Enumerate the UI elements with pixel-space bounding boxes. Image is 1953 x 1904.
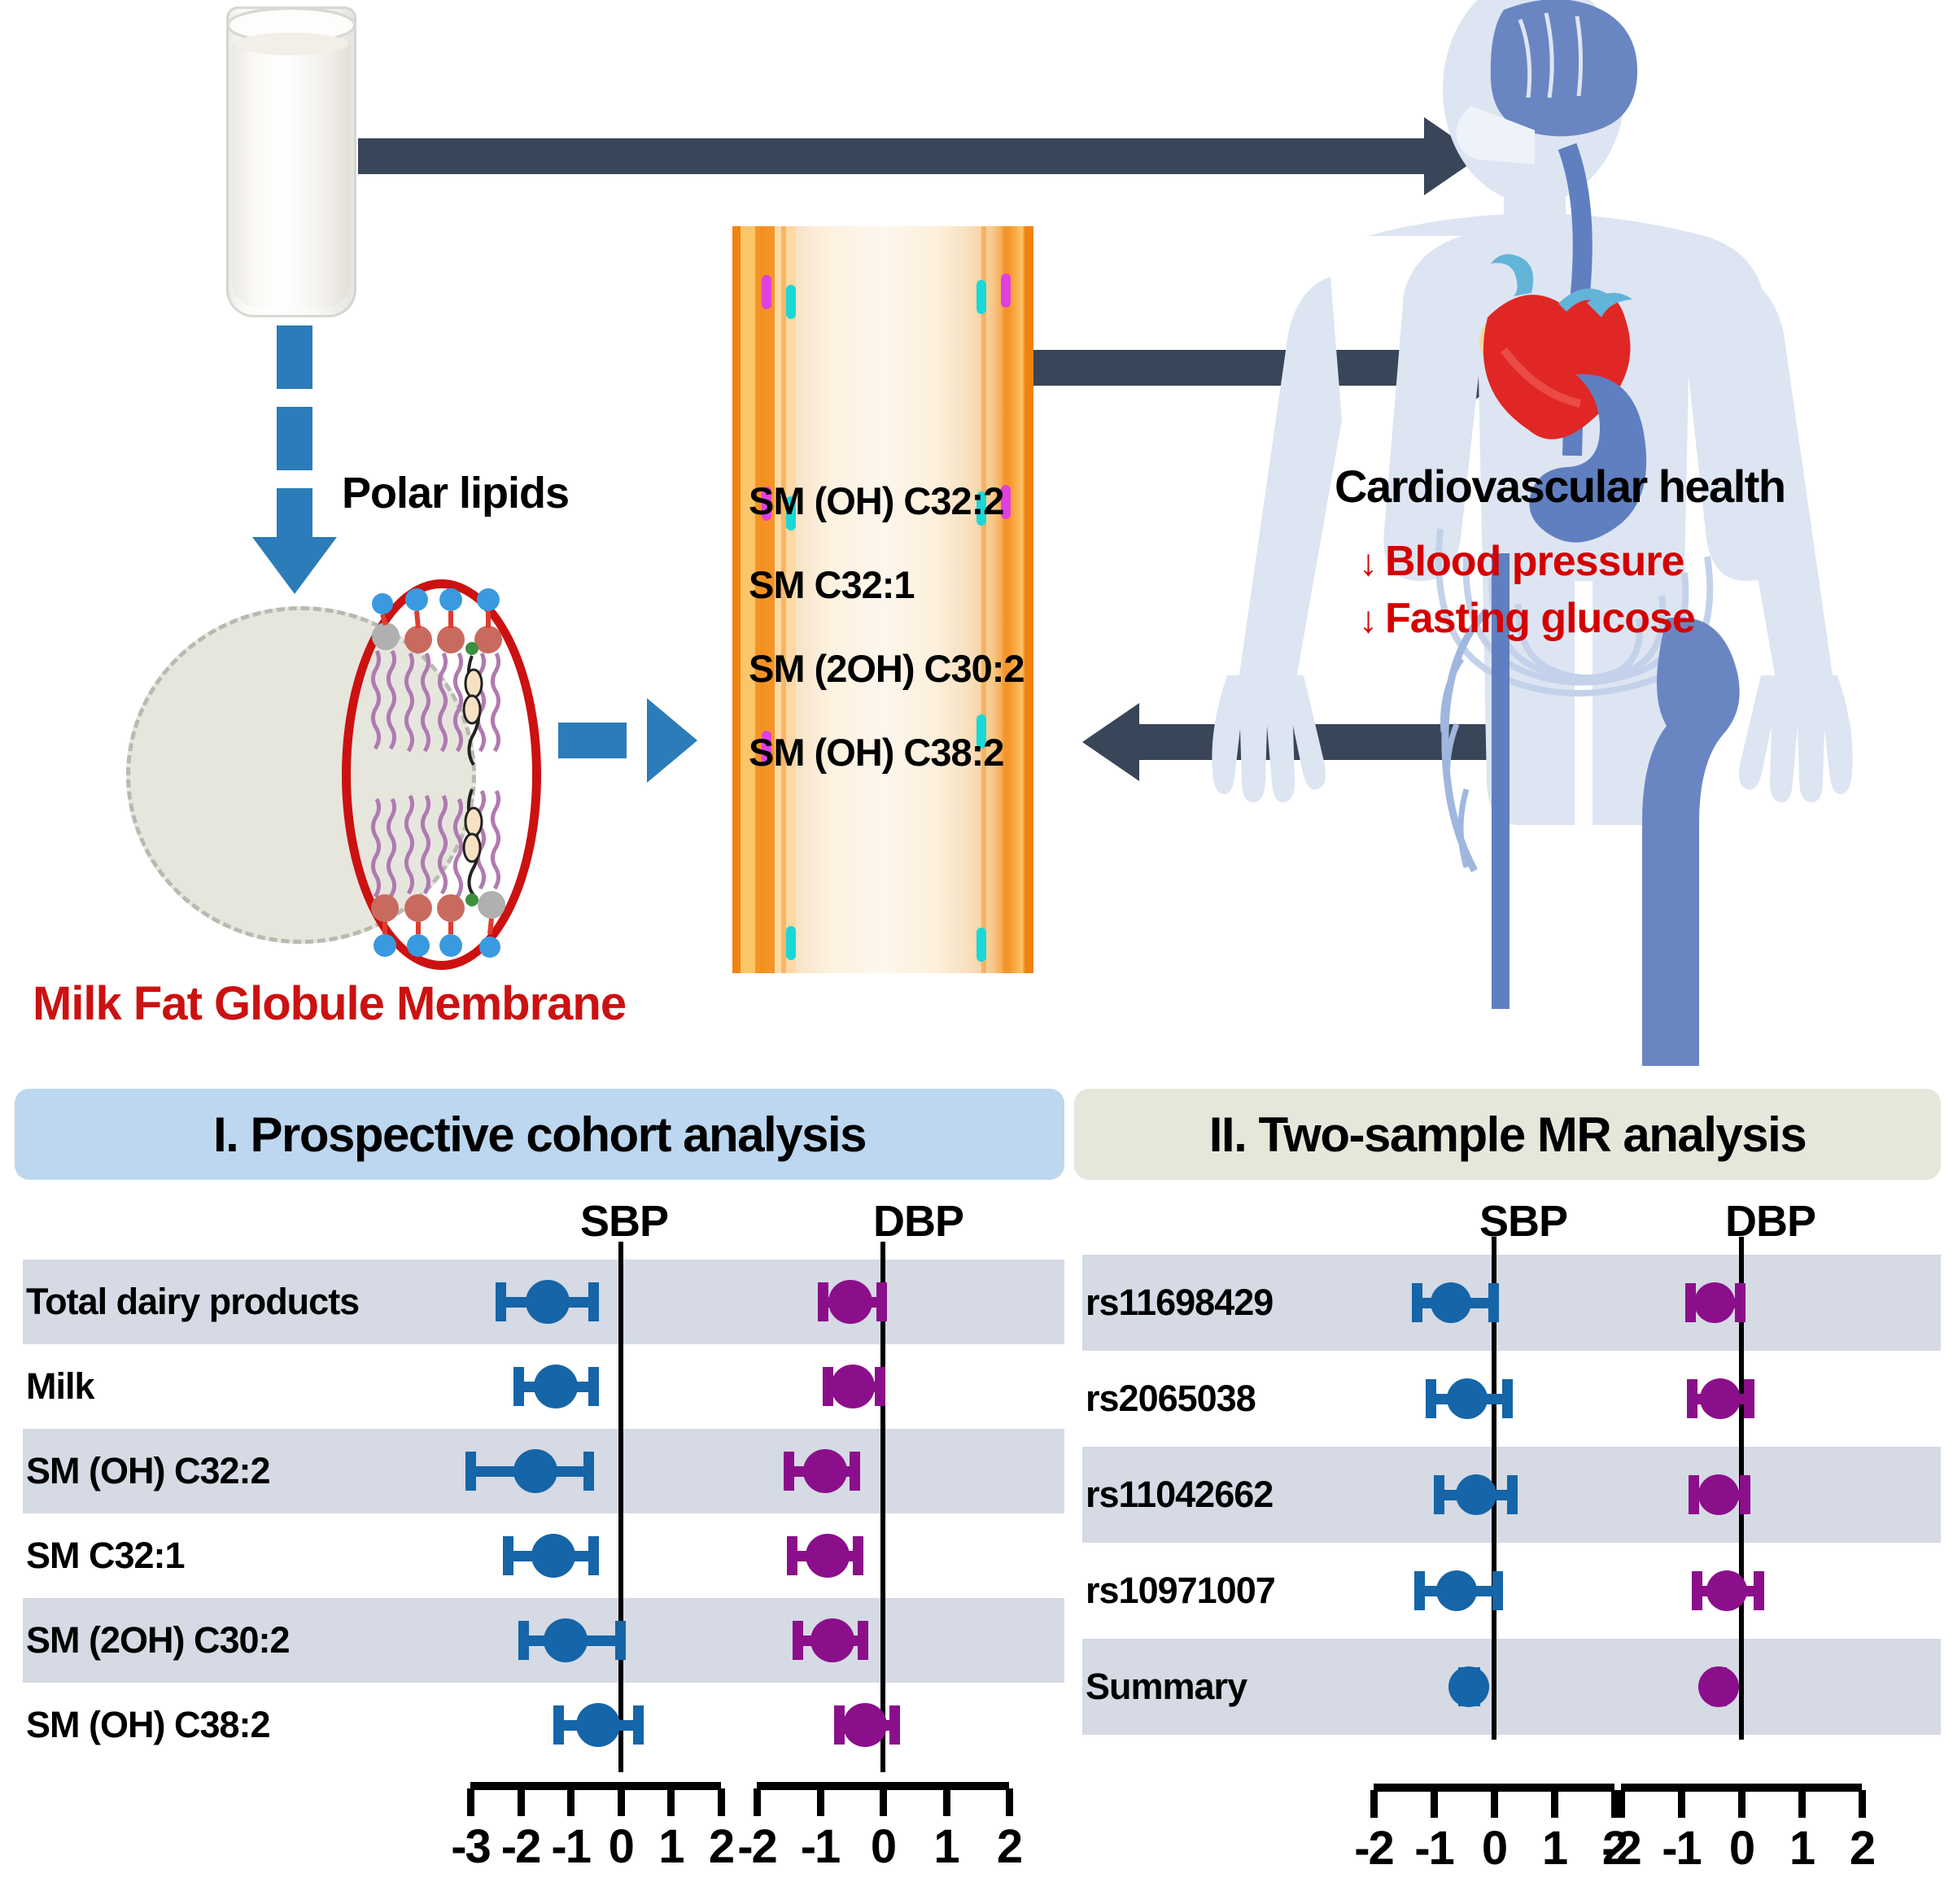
row-label: rs11042662 — [1086, 1474, 1273, 1516]
confidence-interval-cap — [1412, 1283, 1422, 1322]
confidence-interval-cap — [588, 1536, 599, 1575]
confidence-interval-cap — [1754, 1571, 1764, 1610]
x-axis-tick — [1551, 1790, 1558, 1818]
point-estimate-marker — [531, 1534, 575, 1578]
x-axis-tick-label: 0 — [850, 1819, 915, 1874]
vessel-lipid-item: SM (2OH) C30:2 — [749, 646, 1058, 691]
mfgm-label: Milk Fat Globule Membrane — [33, 976, 626, 1031]
point-estimate-marker — [544, 1618, 588, 1662]
point-estimate-marker — [1694, 1282, 1735, 1323]
confidence-interval-cap — [633, 1705, 644, 1745]
outcome-blood-pressure-label: Blood pressure — [1385, 538, 1684, 585]
confidence-interval-cap — [1692, 1571, 1702, 1610]
arrow-milk-to-globule-head — [252, 537, 337, 594]
confidence-interval-cap — [1735, 1283, 1745, 1322]
row-label: Summary — [1086, 1666, 1247, 1708]
confidence-interval-cap — [850, 1452, 860, 1491]
x-axis-tick-label: 2 — [1829, 1821, 1894, 1876]
point-estimate-marker — [1447, 1378, 1488, 1419]
point-estimate-marker — [1431, 1282, 1471, 1323]
x-axis-tick — [880, 1788, 887, 1816]
milk-glass-icon — [226, 7, 356, 317]
x-axis-tick — [943, 1788, 950, 1816]
x-axis-tick — [567, 1788, 575, 1816]
panel-mr-title: II. Two-sample MR analysis — [1209, 1107, 1806, 1163]
confidence-interval-cap — [1502, 1379, 1513, 1418]
down-arrow-icon: ↓ — [1359, 541, 1377, 583]
graphical-abstract-illustration: Polar lipids Milk Fat Globule Membrane S… — [0, 0, 1953, 1082]
point-estimate-marker — [1448, 1666, 1489, 1707]
x-axis-tick-label: -1 — [1649, 1821, 1714, 1876]
row-label: rs2065038 — [1086, 1378, 1256, 1420]
confidence-interval-cap — [1492, 1571, 1503, 1610]
x-axis-tick — [518, 1788, 525, 1816]
arrow-body-to-vessel-head — [1082, 703, 1139, 781]
column-title-sbp: SBP — [580, 1196, 668, 1247]
x-axis-tick-label: -2 — [1341, 1821, 1406, 1876]
confidence-interval-cap — [615, 1621, 626, 1660]
confidence-interval-cap — [858, 1621, 868, 1660]
x-axis-tick — [467, 1788, 474, 1816]
panel-cohort-title: I. Prospective cohort analysis — [213, 1107, 866, 1163]
confidence-interval-cap — [1426, 1379, 1436, 1418]
point-estimate-marker — [534, 1365, 578, 1408]
confidence-interval-cap — [588, 1282, 599, 1321]
x-axis-tick — [1006, 1788, 1013, 1816]
point-estimate-marker — [1436, 1570, 1477, 1611]
confidence-interval-cap — [1740, 1475, 1750, 1514]
confidence-interval-cap — [503, 1536, 513, 1575]
reference-line-zero — [618, 1242, 623, 1772]
confidence-interval-cap — [465, 1452, 476, 1491]
panel-cohort-header: I. Prospective cohort analysis — [15, 1089, 1064, 1180]
point-estimate-marker — [843, 1703, 887, 1747]
row-label: SM (OH) C32:2 — [26, 1450, 270, 1492]
confidence-interval-cap — [889, 1705, 900, 1745]
x-axis-tick — [1431, 1790, 1438, 1818]
panel-prospective-cohort: I. Prospective cohort analysis SBP DBP T… — [15, 1082, 1064, 1904]
x-axis-tick — [1618, 1790, 1625, 1818]
confidence-interval-cap — [1488, 1283, 1499, 1322]
x-axis-tick — [1491, 1790, 1498, 1818]
confidence-interval-cap — [588, 1367, 599, 1406]
x-axis-tick-label: -1 — [1401, 1821, 1466, 1876]
confidence-interval-cap — [853, 1536, 863, 1575]
x-axis-tick — [718, 1788, 725, 1816]
confidence-interval-cap — [496, 1282, 506, 1321]
x-axis-tick — [754, 1788, 761, 1816]
x-axis-tick — [1678, 1790, 1685, 1818]
x-axis-tick-label: 1 — [1769, 1821, 1834, 1876]
vessel-lipid-item: SM C32:1 — [749, 562, 1058, 607]
x-axis-tick-label: -1 — [788, 1819, 853, 1874]
point-estimate-marker — [803, 1449, 847, 1493]
arrow-globule-to-vessel-head — [647, 698, 697, 783]
cardiovascular-health-title: Cardiovascular health — [1335, 460, 1785, 513]
x-axis-tick-label: 1 — [1522, 1821, 1587, 1876]
x-axis — [470, 1782, 721, 1790]
point-estimate-marker — [1698, 1474, 1739, 1515]
outcome-blood-pressure: ↓Blood pressure — [1359, 537, 1684, 586]
confidence-interval-cap — [1744, 1379, 1754, 1418]
vessel-lipid-item: SM (OH) C38:2 — [749, 730, 1058, 775]
x-axis-tick — [1738, 1790, 1745, 1818]
confidence-interval-cap — [1689, 1475, 1699, 1514]
panel-mr-header: II. Two-sample MR analysis — [1074, 1089, 1941, 1180]
row-label: SM (2OH) C30:2 — [26, 1619, 290, 1662]
x-axis-tick-label: -2 — [1588, 1821, 1654, 1876]
confidence-interval-cap — [875, 1367, 885, 1406]
confidence-interval-cap — [787, 1536, 797, 1575]
confidence-interval-cap — [1687, 1379, 1697, 1418]
point-estimate-marker — [1456, 1474, 1496, 1515]
point-estimate-marker — [1706, 1570, 1747, 1611]
confidence-interval-cap — [583, 1452, 594, 1491]
confidence-interval-cap — [876, 1282, 887, 1321]
forest-plot-section: I. Prospective cohort analysis SBP DBP T… — [0, 1082, 1953, 1904]
confidence-interval-cap — [793, 1621, 803, 1660]
x-axis-tick — [1859, 1790, 1866, 1818]
x-axis-tick — [667, 1788, 675, 1816]
point-estimate-marker — [810, 1618, 854, 1662]
confidence-interval-cap — [1414, 1571, 1425, 1610]
panel-mr-analysis: II. Two-sample MR analysis SBP DBP rs116… — [1074, 1082, 1941, 1904]
row-label: SM C32:1 — [26, 1535, 185, 1577]
x-axis-tick-label: 0 — [1709, 1821, 1774, 1876]
point-estimate-marker — [1698, 1666, 1739, 1707]
outcome-fasting-glucose-label: Fasting glucose — [1385, 595, 1695, 642]
down-arrow-icon: ↓ — [1359, 598, 1377, 640]
point-estimate-marker — [828, 1280, 872, 1324]
point-estimate-marker — [831, 1365, 875, 1408]
point-estimate-marker — [806, 1534, 850, 1578]
x-axis-tick — [618, 1788, 625, 1816]
confidence-interval-cap — [818, 1282, 828, 1321]
row-label: SM (OH) C38:2 — [26, 1704, 270, 1746]
lipid-bilayer-icon — [350, 586, 537, 968]
x-axis-tick — [1370, 1790, 1378, 1818]
column-title-dbp: DBP — [873, 1196, 963, 1247]
x-axis-tick — [1798, 1790, 1806, 1818]
confidence-interval-cap — [513, 1367, 524, 1406]
confidence-interval-cap — [518, 1621, 529, 1660]
row-label: rs10971007 — [1086, 1570, 1275, 1612]
confidence-interval-cap — [553, 1705, 564, 1745]
x-axis-tick-label: 1 — [914, 1819, 979, 1874]
x-axis-tick-label: 2 — [976, 1819, 1042, 1874]
human-body-illustration — [1164, 0, 1953, 1066]
point-estimate-marker — [513, 1449, 557, 1493]
polar-lipids-label: Polar lipids — [342, 468, 569, 518]
point-estimate-marker — [1700, 1378, 1741, 1419]
row-label: rs11698429 — [1086, 1282, 1273, 1324]
x-axis-tick-label: -2 — [724, 1819, 789, 1874]
row-label: Total dairy products — [26, 1281, 359, 1323]
outcome-fasting-glucose: ↓Fasting glucose — [1359, 594, 1695, 643]
confidence-interval-cap — [784, 1452, 794, 1491]
confidence-interval-cap — [1434, 1475, 1444, 1514]
row-label: Milk — [26, 1365, 94, 1408]
x-axis-tick-label: 0 — [1461, 1821, 1527, 1876]
vessel-lipid-list: SM (OH) C32:2 SM C32:1 SM (2OH) C30:2 SM… — [749, 478, 1058, 814]
x-axis-tick — [817, 1788, 824, 1816]
confidence-interval-cap — [1507, 1475, 1518, 1514]
vessel-lipid-item: SM (OH) C32:2 — [749, 478, 1058, 523]
point-estimate-marker — [576, 1703, 620, 1747]
